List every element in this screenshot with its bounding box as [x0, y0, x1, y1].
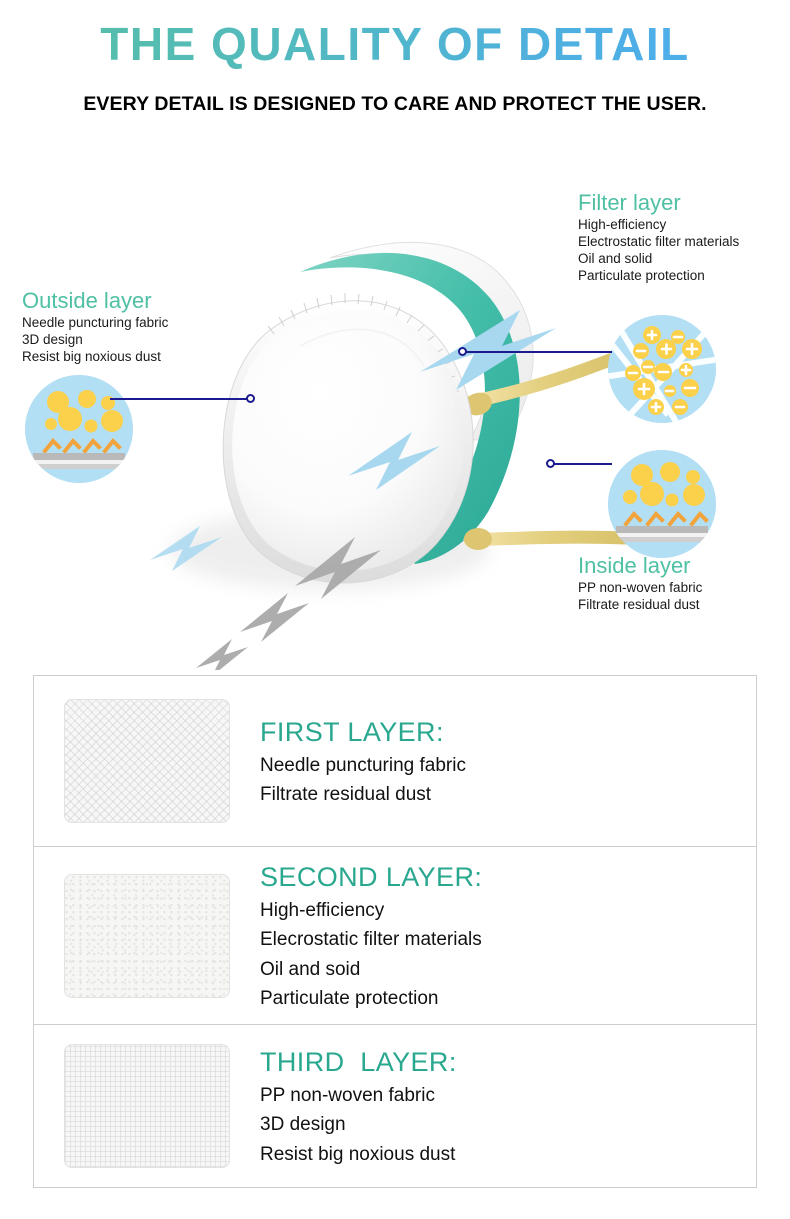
- card-text: FIRST LAYER: Needle puncturing fabric Fi…: [260, 713, 476, 810]
- card-heading-third-layer: THIRD LAYER:: [260, 1043, 457, 1081]
- fabric-swatch-second-layer: [64, 874, 230, 998]
- inset-filter-layer: [608, 315, 716, 423]
- inset-inside-layer: [608, 450, 716, 558]
- connector-dot-inside-layer: [546, 459, 555, 468]
- card-line: Elecrostatic filter materials: [260, 925, 482, 955]
- card-line: 3D design: [260, 1110, 457, 1140]
- inset-outside-layer: [25, 375, 133, 483]
- callout-line: High-efficiency: [578, 216, 739, 233]
- mask-cutaway-diagram: Outside layer Needle puncturing fabric 3…: [0, 140, 790, 670]
- connector-dot-filter-layer: [458, 347, 467, 356]
- callout-title-filter: Filter layer: [578, 190, 739, 216]
- connector-filter-layer: [462, 351, 612, 353]
- card-line: Needle puncturing fabric: [260, 751, 466, 781]
- page-title: THE QUALITY OF DETAIL: [0, 14, 790, 74]
- callout-filter-layer: Filter layer High-efficiency Electrostat…: [578, 190, 739, 284]
- callout-title-inside: Inside layer: [578, 553, 702, 579]
- card-heading-first-layer: FIRST LAYER:: [260, 713, 466, 751]
- card-line: High-efficiency: [260, 896, 482, 926]
- callout-line: Needle puncturing fabric: [22, 314, 168, 331]
- connector-inside-layer: [550, 463, 612, 465]
- callout-line: Oil and solid: [578, 250, 739, 267]
- connector-dot-outside-layer: [246, 394, 255, 403]
- card-line: Oil and soid: [260, 955, 482, 985]
- callout-inside-layer: Inside layer PP non-woven fabric Filtrat…: [578, 553, 702, 613]
- card-line: Resist big noxious dust: [260, 1140, 457, 1170]
- callout-line: Electrostatic filter materials: [578, 233, 739, 250]
- callout-line: Filtrate residual dust: [578, 596, 702, 613]
- card-heading-second-layer: SECOND LAYER:: [260, 858, 482, 896]
- fabric-swatch-first-layer: [64, 699, 230, 823]
- mask-strap-lower: [470, 537, 625, 540]
- page-subtitle: EVERY DETAIL IS DESIGNED TO CARE AND PRO…: [0, 93, 790, 116]
- connector-outside-layer: [110, 398, 250, 400]
- layer-card: THIRD LAYER: PP non-woven fabric 3D desi…: [33, 1024, 757, 1188]
- layer-card: SECOND LAYER: High-efficiency Elecrostat…: [33, 846, 757, 1025]
- callout-line: PP non-woven fabric: [578, 579, 702, 596]
- callout-line: Resist big noxious dust: [22, 348, 168, 365]
- layer-cards: FIRST LAYER: Needle puncturing fabric Fi…: [33, 676, 757, 1188]
- card-text: THIRD LAYER: PP non-woven fabric 3D desi…: [260, 1043, 467, 1170]
- layer-card: FIRST LAYER: Needle puncturing fabric Fi…: [33, 675, 757, 847]
- callout-line: 3D design: [22, 331, 168, 348]
- card-text: SECOND LAYER: High-efficiency Elecrostat…: [260, 858, 492, 1014]
- callout-line: Particulate protection: [578, 267, 739, 284]
- callout-title-outside: Outside layer: [22, 288, 168, 314]
- card-line: Particulate protection: [260, 984, 482, 1014]
- callout-outside-layer: Outside layer Needle puncturing fabric 3…: [22, 288, 168, 365]
- header: THE QUALITY OF DETAIL EVERY DETAIL IS DE…: [0, 0, 790, 140]
- fabric-swatch-third-layer: [64, 1044, 230, 1168]
- card-line: PP non-woven fabric: [260, 1081, 457, 1111]
- card-line: Filtrate residual dust: [260, 780, 466, 810]
